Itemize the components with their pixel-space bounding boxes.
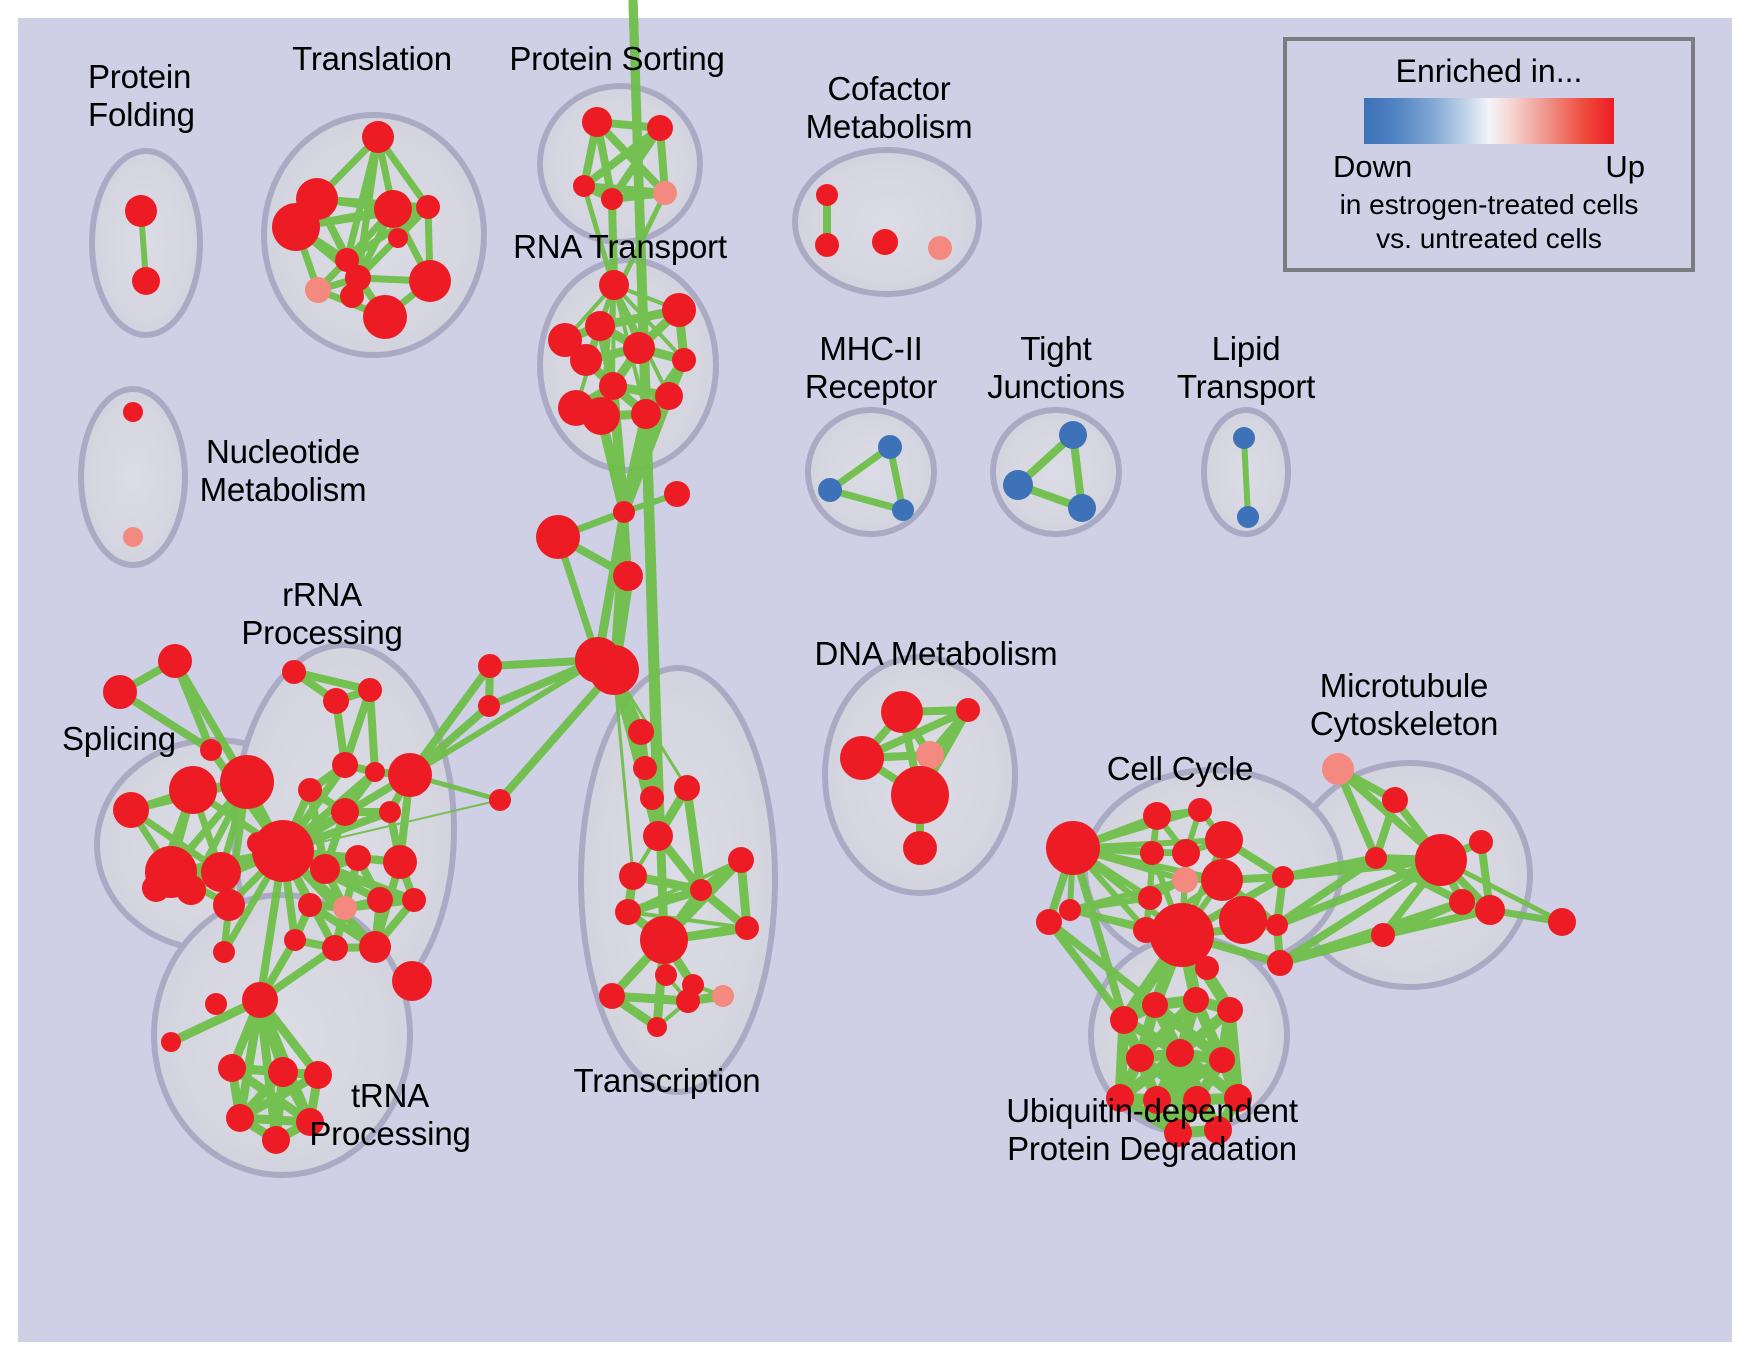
node-up — [928, 236, 952, 260]
edge — [1244, 438, 1248, 517]
node-up — [690, 879, 712, 901]
node-down — [1059, 421, 1087, 449]
node-up — [1046, 821, 1100, 875]
node-up — [478, 654, 502, 678]
node-down — [1237, 506, 1259, 528]
node-up — [158, 644, 192, 678]
node-up — [672, 348, 696, 372]
node-down — [818, 478, 842, 502]
cluster-label-cofactor-metabolism: Cofactor Metabolism — [806, 70, 973, 146]
node-up — [298, 778, 322, 802]
node-up — [662, 293, 696, 327]
node-up — [322, 935, 348, 961]
node-up — [1110, 1006, 1138, 1034]
node-up — [891, 766, 949, 824]
blob-mhc-ii-receptor — [808, 410, 934, 534]
node-up — [589, 645, 639, 695]
node-up — [200, 739, 222, 761]
cluster-label-protein-sorting: Protein Sorting — [509, 40, 724, 78]
node-up — [1449, 889, 1475, 915]
node-up — [362, 121, 394, 153]
cluster-label-rrna-processing: rRNA Processing — [241, 576, 402, 652]
blob-cofactor-metabolism — [795, 150, 979, 294]
node-up — [1183, 987, 1209, 1013]
node-up — [242, 982, 278, 1018]
node-up — [218, 1054, 246, 1082]
node-up — [388, 753, 432, 797]
legend-subtitle-line2: vs. untreated cells — [1340, 222, 1639, 256]
node-up — [268, 1057, 298, 1087]
node-up — [298, 893, 322, 917]
edge — [370, 690, 375, 772]
node-up — [201, 852, 241, 892]
node-up — [655, 382, 683, 410]
node-up — [213, 941, 235, 963]
node-up — [367, 887, 393, 913]
node-up — [840, 736, 884, 780]
node-up — [323, 688, 349, 714]
node-up — [1172, 839, 1200, 867]
node-up — [409, 260, 451, 302]
node-up — [728, 847, 754, 873]
node-up — [1267, 950, 1293, 976]
node-up — [881, 691, 923, 733]
node-up — [1371, 923, 1395, 947]
node-up — [1036, 909, 1062, 935]
cluster-label-microtubule-cytoskeleton: Microtubule Cytoskeleton — [1310, 667, 1498, 743]
node-up — [536, 515, 580, 559]
node-up — [647, 1017, 667, 1037]
node-up — [176, 875, 206, 905]
node-up — [619, 862, 647, 890]
node-up — [363, 295, 407, 339]
legend-high-label: Up — [1605, 148, 1645, 186]
node-up — [113, 792, 149, 828]
node-up — [1126, 1044, 1154, 1072]
node-down — [1068, 494, 1096, 522]
node-up — [582, 397, 620, 435]
node-up — [205, 993, 227, 1015]
node-up — [402, 888, 426, 912]
node-up — [628, 719, 654, 745]
node-up — [1143, 802, 1171, 830]
node-up — [1266, 914, 1288, 936]
node-down — [1003, 470, 1033, 500]
node-up — [132, 267, 160, 295]
node-up — [653, 181, 677, 205]
cluster-label-dna-metabolism: DNA Metabolism — [815, 635, 1058, 673]
node-up — [142, 874, 170, 902]
node-up — [169, 766, 217, 814]
node-up — [1365, 847, 1387, 869]
node-up — [213, 889, 245, 921]
node-up — [388, 228, 408, 248]
cluster-label-protein-folding: Protein Folding — [88, 58, 195, 134]
node-up — [123, 527, 143, 547]
node-up — [478, 695, 500, 717]
node-up — [1195, 956, 1219, 980]
node-up — [379, 801, 401, 823]
node-up — [599, 372, 627, 400]
node-up — [1217, 997, 1243, 1023]
node-up — [226, 1104, 254, 1132]
legend-endpoint-labels: Down Up — [1333, 148, 1645, 186]
node-up — [956, 698, 980, 722]
legend-subtitle-line1: in estrogen-treated cells — [1340, 188, 1639, 222]
node-up — [615, 899, 641, 925]
cluster-label-rna-transport: RNA Transport — [513, 228, 727, 266]
node-up — [570, 344, 602, 376]
legend-color-gradient — [1364, 98, 1614, 144]
node-up — [643, 821, 673, 851]
node-up — [664, 481, 690, 507]
blob-protein-sorting — [540, 86, 700, 242]
node-up — [333, 896, 357, 920]
node-up — [599, 983, 625, 1009]
node-up — [816, 184, 838, 206]
node-up — [365, 762, 385, 782]
node-up — [1322, 753, 1354, 785]
node-down — [892, 499, 914, 521]
node-up — [1201, 859, 1243, 901]
node-down — [878, 435, 902, 459]
legend-title: Enriched in... — [1396, 51, 1583, 91]
node-up — [1209, 1047, 1235, 1073]
node-up — [633, 756, 657, 780]
legend-subtitle: in estrogen-treated cells vs. untreated … — [1340, 188, 1639, 256]
node-up — [613, 561, 643, 591]
node-up — [1142, 992, 1168, 1018]
node-up — [220, 755, 274, 809]
node-up — [903, 831, 937, 865]
node-up — [358, 678, 382, 702]
node-up — [1172, 867, 1198, 893]
node-up — [623, 332, 655, 364]
node-up — [655, 964, 677, 986]
node-up — [489, 789, 511, 811]
node-up — [735, 916, 759, 940]
node-up — [1188, 798, 1212, 822]
cluster-label-lipid-transport: Lipid Transport — [1177, 330, 1315, 406]
node-up — [1219, 896, 1267, 944]
node-up — [310, 854, 340, 884]
node-up — [374, 190, 412, 228]
enrichment-map-figure: Protein Folding Translation Protein Sort… — [0, 0, 1750, 1360]
node-up — [416, 195, 440, 219]
node-up — [585, 311, 615, 341]
node-up — [345, 845, 371, 871]
node-up — [1469, 830, 1493, 854]
node-up — [383, 845, 417, 879]
node-up — [640, 916, 688, 964]
cluster-label-splicing: Splicing — [62, 720, 176, 758]
node-up — [1166, 1039, 1194, 1067]
node-up — [573, 175, 595, 197]
node-up — [1272, 866, 1294, 888]
node-up — [282, 660, 306, 684]
cluster-label-nucleotide-metabolism: Nucleotide Metabolism — [200, 433, 367, 509]
node-up — [601, 188, 623, 210]
node-down — [1233, 427, 1255, 449]
node-up — [272, 203, 320, 251]
node-up — [1140, 841, 1164, 865]
node-up — [712, 985, 734, 1007]
cluster-label-mhc-ii-receptor: MHC-II Receptor — [805, 330, 937, 406]
node-up — [305, 277, 331, 303]
node-up — [1475, 895, 1505, 925]
node-up — [582, 107, 612, 137]
node-up — [123, 402, 143, 422]
node-up — [125, 195, 157, 227]
node-up — [359, 931, 391, 963]
node-up — [613, 501, 635, 523]
node-up — [815, 233, 839, 257]
node-up — [392, 961, 432, 1001]
node-up — [331, 798, 359, 826]
node-up — [1415, 834, 1467, 886]
node-up — [631, 399, 661, 429]
node-up — [640, 786, 664, 810]
node-up — [340, 284, 364, 308]
node-up — [916, 741, 944, 769]
node-up — [872, 229, 898, 255]
node-up — [262, 1126, 290, 1154]
cluster-label-transcription: Transcription — [574, 1062, 761, 1100]
node-up — [1205, 821, 1243, 859]
cluster-label-translation: Translation — [292, 40, 452, 78]
node-up — [1138, 886, 1162, 910]
node-up — [103, 675, 137, 709]
node-up — [332, 752, 358, 778]
node-up — [1382, 787, 1408, 813]
legend: Enriched in... Down Up in estrogen-treat… — [1283, 37, 1695, 272]
cluster-label-ubiquitin-protein-degradation: Ubiquitin-dependent Protein Degradation — [1006, 1092, 1298, 1168]
cluster-label-tight-junctions: Tight Junctions — [987, 330, 1125, 406]
node-up — [252, 820, 314, 882]
cluster-label-trna-processing: tRNA Processing — [309, 1077, 470, 1153]
node-up — [647, 115, 673, 141]
node-up — [676, 989, 700, 1013]
node-up — [284, 929, 306, 951]
legend-low-label: Down — [1333, 148, 1412, 186]
node-up — [599, 270, 629, 300]
node-up — [1059, 899, 1081, 921]
node-up — [1548, 908, 1576, 936]
node-up — [674, 775, 700, 801]
cluster-label-cell-cycle: Cell Cycle — [1107, 750, 1254, 788]
node-up — [161, 1032, 181, 1052]
